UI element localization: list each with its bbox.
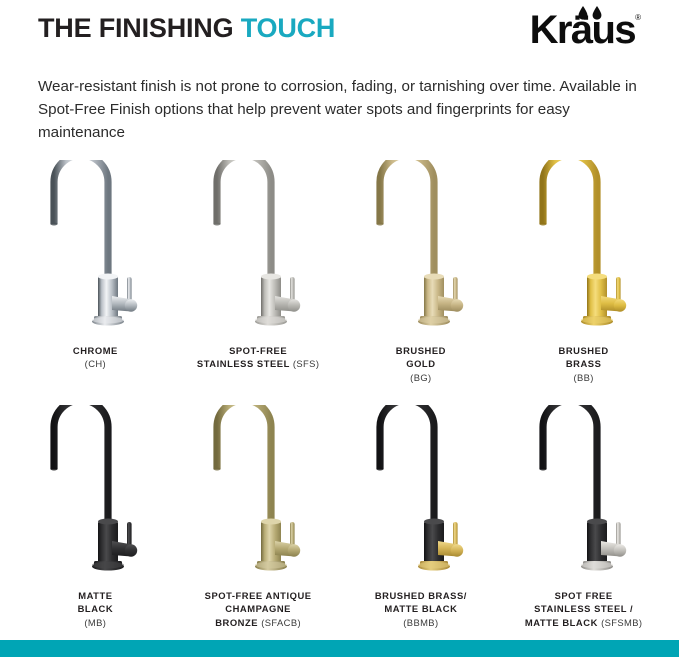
finish-name-line: MATTE BLACK (SFSMB) <box>525 616 643 630</box>
page-title-main: THE FINISHING <box>38 13 233 43</box>
finish-grid-row-1: CHROME(CH) <box>0 160 679 385</box>
water-droplet-umlaut-icon <box>577 6 605 20</box>
faucet-illustration <box>195 405 321 580</box>
finish-code: (BG) <box>396 371 446 385</box>
page-title-accent: TOUCH <box>241 13 336 43</box>
finish-code: (CH) <box>73 357 118 371</box>
finish-option[interactable]: MATTEBLACK(MB) <box>14 405 177 630</box>
faucet-illustration <box>358 405 484 580</box>
finish-option[interactable]: BRUSHEDBRASS(BB) <box>502 160 665 385</box>
finish-name-line: SPOT-FREE ANTIQUE <box>205 589 312 603</box>
finish-name-line: BRUSHED BRASS/ <box>375 589 467 603</box>
finish-caption: SPOT-FREESTAINLESS STEEL (SFS) <box>197 344 319 371</box>
finish-option[interactable]: BRUSHED BRASS/MATTE BLACK(BBMB) <box>340 405 503 630</box>
faucet-illustration <box>32 160 158 335</box>
finish-caption: SPOT-FREE ANTIQUECHAMPAGNEBRONZE (SFACB) <box>205 589 312 630</box>
bottom-accent-bar <box>0 640 679 657</box>
finish-name-line: MATTE BLACK <box>375 602 467 616</box>
faucet-illustration <box>195 160 321 335</box>
finish-option[interactable]: SPOT-FREESTAINLESS STEEL (SFS) <box>177 160 340 385</box>
description-text: Wear-resistant finish is not prone to co… <box>0 65 676 144</box>
finish-name-line: BRUSHED <box>396 344 446 358</box>
faucet-illustration <box>521 405 647 580</box>
finish-name-line: BRONZE (SFACB) <box>205 616 312 630</box>
finish-name-line: GOLD <box>396 357 446 371</box>
finish-name-line: SPOT-FREE <box>197 344 319 358</box>
finish-image <box>14 405 177 580</box>
finish-caption: BRUSHEDBRASS(BB) <box>559 344 609 385</box>
finish-image <box>14 160 177 335</box>
page-title: THE FINISHING TOUCH <box>38 14 335 42</box>
finish-caption: CHROME(CH) <box>73 344 118 371</box>
finish-code: (SFS) <box>293 358 319 369</box>
finish-name-line: STAINLESS STEEL (SFS) <box>197 357 319 371</box>
finish-name-line: BRUSHED <box>559 344 609 358</box>
finish-caption: BRUSHED BRASS/MATTE BLACK(BBMB) <box>375 589 467 630</box>
finish-code: (MB) <box>78 616 114 630</box>
finish-image <box>177 405 340 580</box>
finish-caption: SPOT FREESTAINLESS STEEL /MATTE BLACK (S… <box>525 589 643 630</box>
finish-image <box>340 405 503 580</box>
kraus-logo: Kräus ® <box>530 10 641 50</box>
finish-option[interactable]: BRUSHEDGOLD(BG) <box>340 160 503 385</box>
finish-name-line: CHROME <box>73 344 118 358</box>
finish-image <box>177 160 340 335</box>
finish-option[interactable]: SPOT-FREE ANTIQUECHAMPAGNEBRONZE (SFACB) <box>177 405 340 630</box>
finish-image <box>502 160 665 335</box>
finish-image <box>340 160 503 335</box>
finish-caption: BRUSHEDGOLD(BG) <box>396 344 446 385</box>
faucet-illustration <box>32 405 158 580</box>
faucet-illustration <box>521 160 647 335</box>
finish-code: (BB) <box>559 371 609 385</box>
finish-name-line: STAINLESS STEEL / <box>525 602 643 616</box>
finish-name-line: BRASS <box>559 357 609 371</box>
registered-trademark-icon: ® <box>635 14 641 22</box>
finish-name-line: BLACK <box>78 602 114 616</box>
finish-grid-row-2: MATTEBLACK(MB) <box>0 399 679 630</box>
finish-caption: MATTEBLACK(MB) <box>78 589 114 630</box>
finish-name-line: SPOT FREE <box>525 589 643 603</box>
finish-name-line: MATTE <box>78 589 114 603</box>
finish-code: (SFSMB) <box>601 617 642 628</box>
finish-name-line: CHAMPAGNE <box>205 602 312 616</box>
page-header: THE FINISHING TOUCH Kräus ® <box>0 0 679 50</box>
finish-code: (BBMB) <box>375 616 467 630</box>
finish-image <box>502 405 665 580</box>
finish-code: (SFACB) <box>261 617 301 628</box>
faucet-illustration <box>358 160 484 335</box>
finish-option[interactable]: SPOT FREESTAINLESS STEEL /MATTE BLACK (S… <box>502 405 665 630</box>
finish-option[interactable]: CHROME(CH) <box>14 160 177 385</box>
